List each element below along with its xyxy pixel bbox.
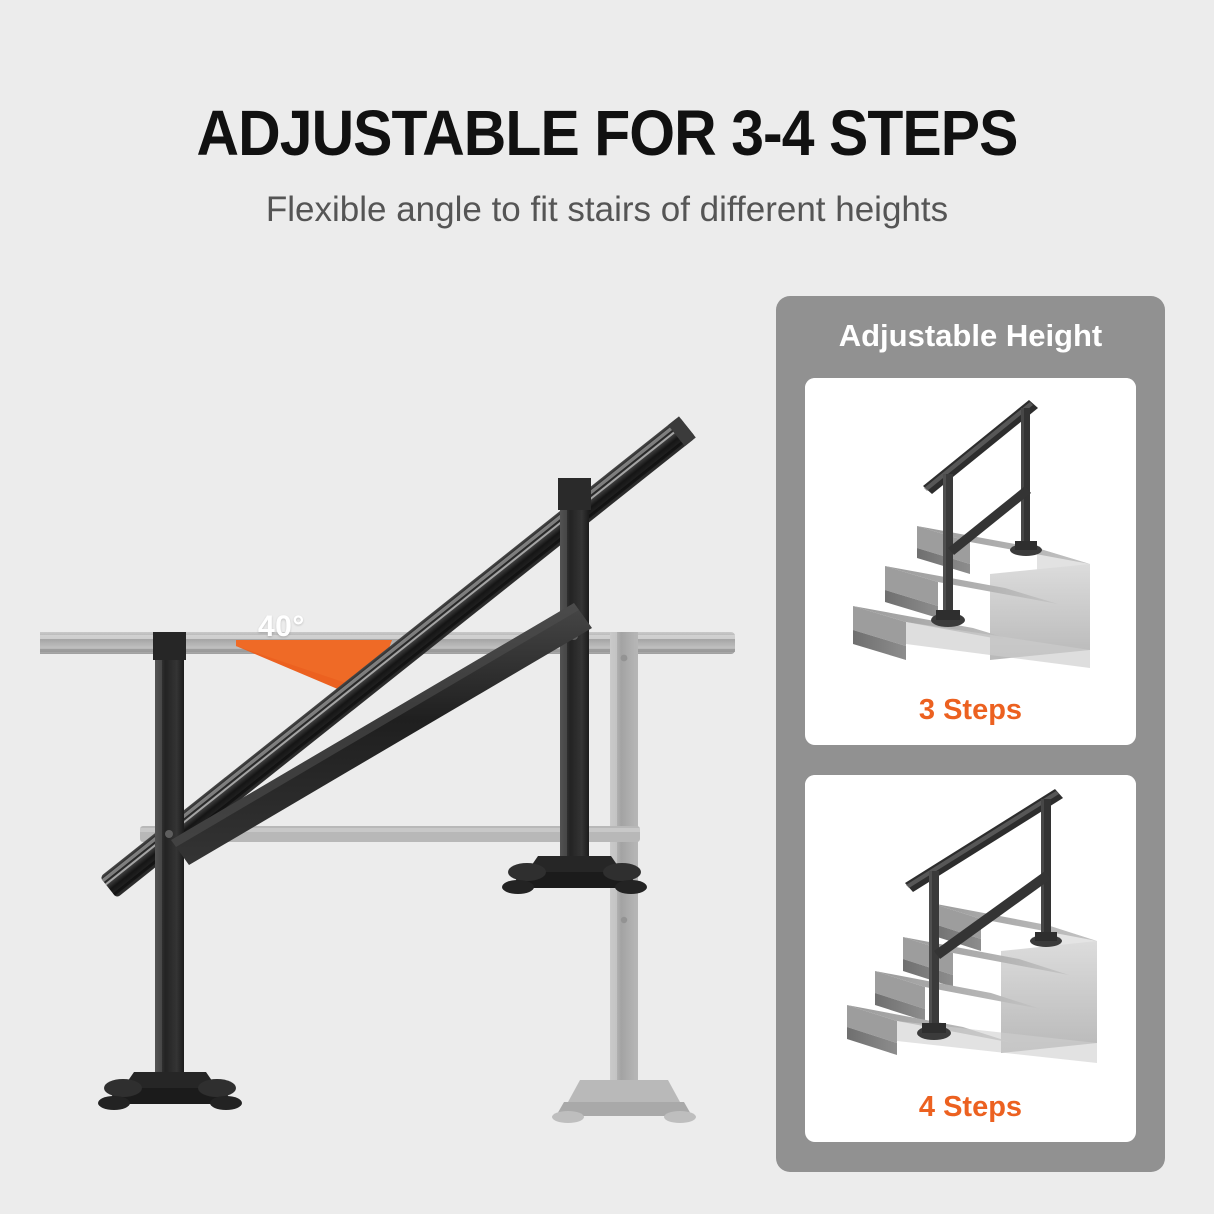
handrail-on-3-concrete-steps-icon bbox=[805, 378, 1136, 678]
diagonal-handrail bbox=[100, 416, 696, 898]
step-card-caption: 4 Steps bbox=[805, 1091, 1136, 1124]
marketing-image-stage: ADJUSTABLE FOR 3-4 STEPS Flexible angle … bbox=[0, 0, 1214, 1214]
adjustable-height-panel: Adjustable Height bbox=[776, 296, 1165, 1172]
page-title: ADJUSTABLE FOR 3-4 STEPS bbox=[49, 96, 1166, 170]
base-plate bbox=[98, 1072, 242, 1110]
product-illustration bbox=[40, 360, 760, 1130]
handrail-on-4-concrete-steps-icon bbox=[805, 775, 1136, 1075]
panel-title: Adjustable Height bbox=[776, 318, 1165, 354]
black-handrail-assembly bbox=[98, 416, 696, 1110]
step-card-3[interactable]: 3 Steps bbox=[805, 378, 1136, 745]
page-subtitle: Flexible angle to fit stairs of differen… bbox=[0, 190, 1214, 230]
step-card-4[interactable]: 4 Steps bbox=[805, 775, 1136, 1142]
step-card-caption: 3 Steps bbox=[805, 694, 1136, 727]
